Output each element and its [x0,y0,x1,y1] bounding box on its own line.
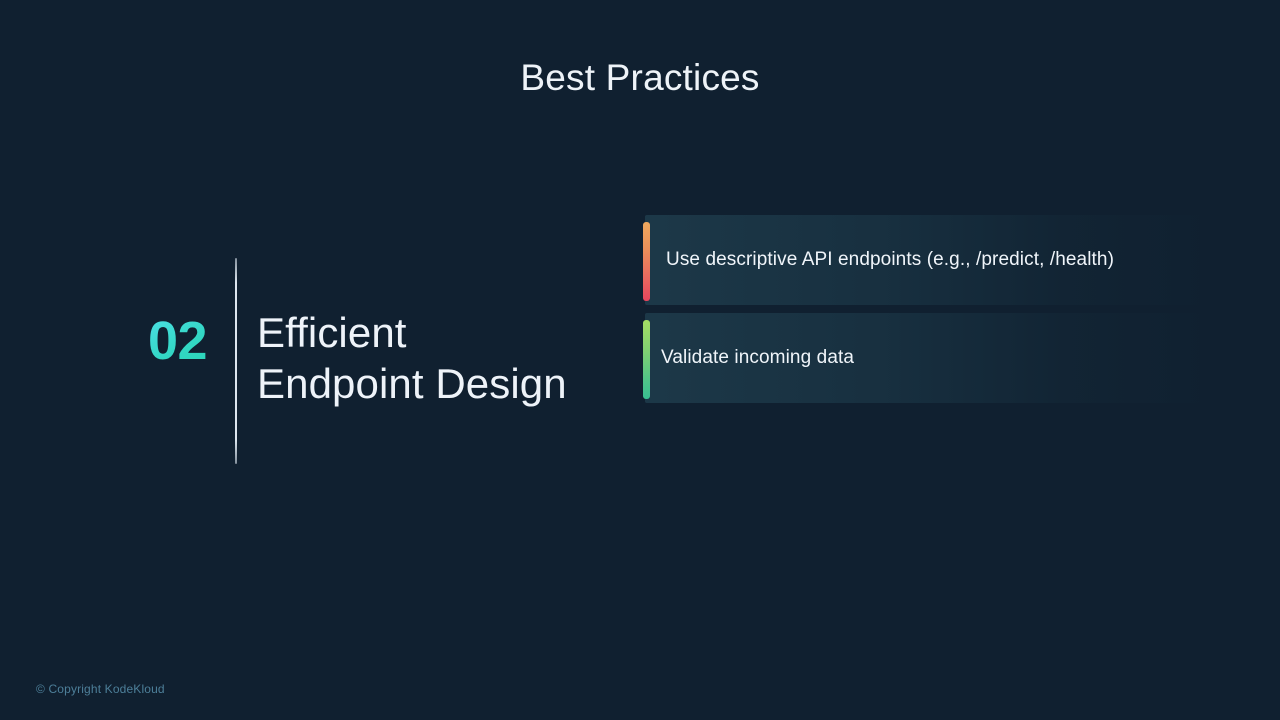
section-left-block: 02 Efficient Endpoint Design [148,258,578,466]
practice-card: Use descriptive API endpoints (e.g., /pr… [640,215,1220,305]
practice-card-list: Use descriptive API endpoints (e.g., /pr… [640,215,1220,411]
practice-card: Validate incoming data [640,313,1220,403]
footer-copyright: © Copyright KodeKloud [36,682,165,696]
section-number: 02 [148,314,220,368]
vertical-divider [235,258,237,464]
page-title: Best Practices [0,58,1280,99]
card-text: Validate incoming data [640,346,854,371]
section-heading-line-1: Efficient [257,307,587,358]
presentation-slide: Best Practices 02 Efficient Endpoint Des… [0,0,1280,720]
card-text: Use descriptive API endpoints (e.g., /pr… [640,248,1114,273]
section-heading: Efficient Endpoint Design [257,307,587,409]
section-heading-line-2: Endpoint Design [257,358,587,409]
